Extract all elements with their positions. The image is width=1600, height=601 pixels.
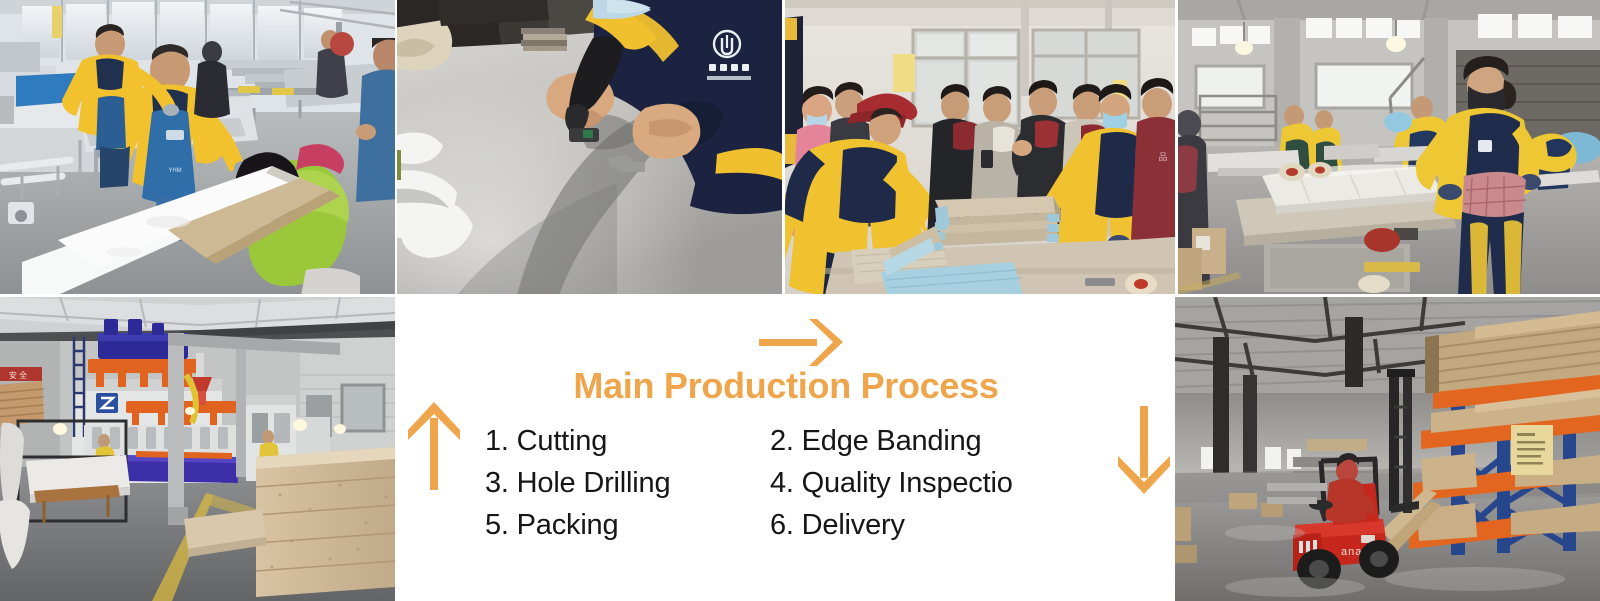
list-item: 3. Hole Drilling [485, 466, 770, 501]
photo-hot-press: 安 全 [0, 297, 395, 601]
svg-text:YHM: YHM [168, 168, 181, 174]
arrow-up-icon [403, 400, 465, 492]
arrow-down-icon [1113, 404, 1175, 496]
photo-panel-cutting: YHM [0, 0, 395, 295]
divider [1175, 0, 1178, 296]
page-title: Main Production Process [397, 365, 1175, 407]
photo-edge-banding-closeup [397, 0, 782, 295]
list-item: 2. Edge Banding [770, 424, 1085, 459]
divider [782, 0, 785, 296]
process-steps-list: 1. Cutting 2. Edge Banding 3. Hole Drill… [485, 424, 1085, 543]
production-process-banner: YHM [0, 0, 1600, 601]
photo-quality-inspection: 品 [785, 0, 1175, 295]
list-item: 1. Cutting [485, 424, 770, 459]
list-item: 5. Packing [485, 508, 770, 543]
divider [395, 0, 397, 296]
arrow-right-icon [757, 313, 847, 369]
photo-warehouse-forklift: anare [1175, 297, 1600, 601]
list-item: 6. Delivery [770, 508, 1085, 543]
svg-text:安 全: 安 全 [9, 370, 27, 380]
svg-text:品: 品 [1158, 152, 1167, 162]
list-item: 4. Quality Inspectio [770, 466, 1085, 501]
photo-packing-line: 意米 [1178, 0, 1600, 295]
